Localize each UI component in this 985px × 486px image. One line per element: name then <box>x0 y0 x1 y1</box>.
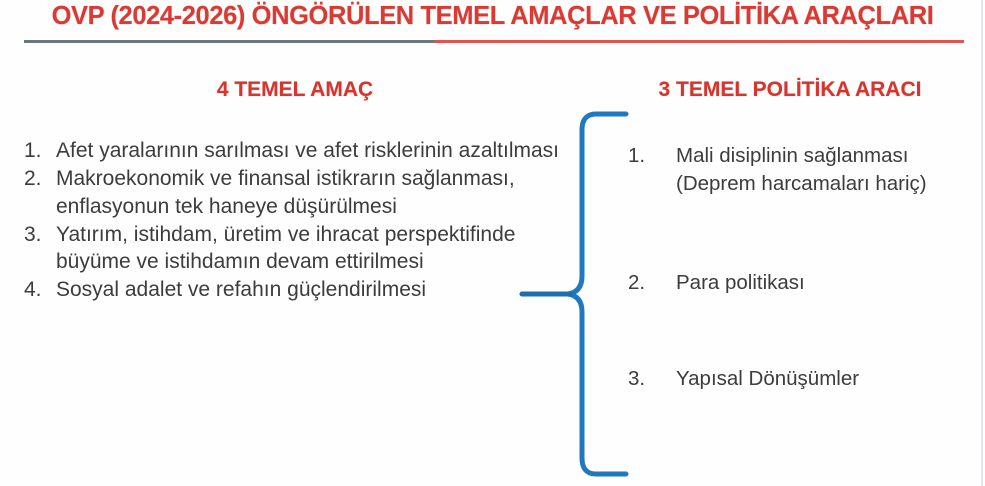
page-title: OVP (2024-2026) ÖNGÖRÜLEN TEMEL AMAÇLAR … <box>0 2 985 31</box>
list-item-number: 1. <box>24 137 50 164</box>
list-item-number: 1. <box>628 142 658 170</box>
list-item-text: Yatırım, istihdam, üretim ve ihracat per… <box>56 221 584 276</box>
list-item-number: 2. <box>24 165 50 192</box>
right-column-heading: 3 TEMEL POLİTİKA ARACI <box>595 78 985 102</box>
list-item-number: 4. <box>24 276 50 303</box>
right-edge-divider <box>981 0 983 486</box>
list-item-text: Makroekonomik ve finansal istikrarın sağ… <box>56 165 584 220</box>
left-column-heading: 4 TEMEL AMAÇ <box>0 78 590 102</box>
list-item-text: Mali disiplinin sağlanması (Deprem harca… <box>676 142 985 197</box>
list-item: 3. Yapısal Dönüşümler <box>628 365 985 393</box>
list-item: 4. Sosyal adalet ve refahın güçlendirilm… <box>24 276 584 303</box>
slide-canvas: OVP (2024-2026) ÖNGÖRÜLEN TEMEL AMAÇLAR … <box>0 0 985 486</box>
list-item-number: 3. <box>628 365 658 393</box>
right-policy-tools-list: 1. Mali disiplinin sağlanması (Deprem ha… <box>628 142 985 393</box>
list-item: 2. Para politikası <box>628 269 985 297</box>
list-item-number: 3. <box>24 221 50 248</box>
list-item: 3. Yatırım, istihdam, üretim ve ihracat … <box>24 221 584 276</box>
list-item-text: Afet yaralarının sarılması ve afet riskl… <box>56 137 584 164</box>
title-underline-rule <box>24 40 964 43</box>
list-item-text: Yapısal Dönüşümler <box>676 365 985 393</box>
list-item-text: Sosyal adalet ve refahın güçlendirilmesi <box>56 276 584 303</box>
list-item: 2. Makroekonomik ve finansal istikrarın … <box>24 165 584 220</box>
list-item-text: Para politikası <box>676 269 985 297</box>
title-block: OVP (2024-2026) ÖNGÖRÜLEN TEMEL AMAÇLAR … <box>0 2 985 46</box>
list-item-number: 2. <box>628 269 658 297</box>
list-item: 1. Afet yaralarının sarılması ve afet ri… <box>24 137 584 164</box>
list-item: 1. Mali disiplinin sağlanması (Deprem ha… <box>628 142 985 197</box>
left-objectives-list: 1. Afet yaralarının sarılması ve afet ri… <box>24 137 584 305</box>
